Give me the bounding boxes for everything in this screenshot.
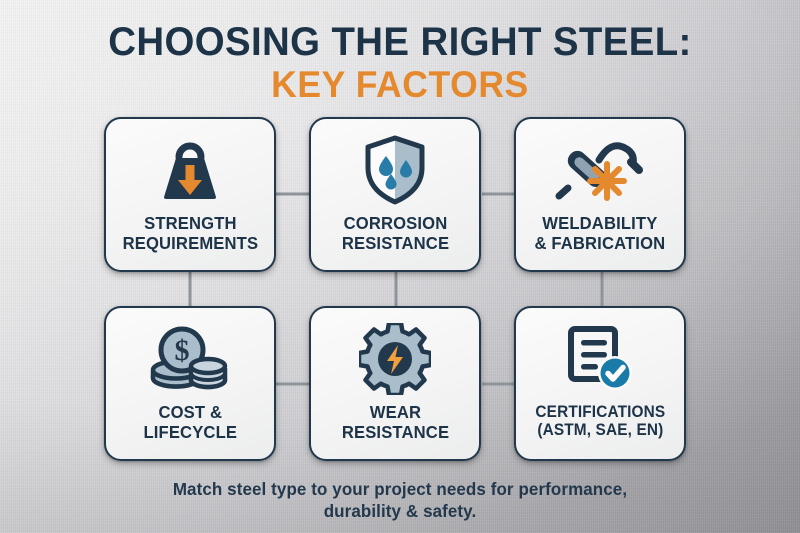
card-label-cost-lifecycle: COST & LIFECYCLE	[139, 403, 240, 443]
title-block: CHOOSING THE RIGHT STEEL: KEY FACTORS	[0, 22, 800, 105]
page-title-primary: CHOOSING THE RIGHT STEEL:	[16, 22, 784, 64]
footer-caption: Match steel type to your project needs f…	[12, 478, 788, 523]
page-title-secondary: KEY FACTORS	[16, 64, 784, 105]
card-label-strength-requirements: STRENGTH REQUIREMENTS	[118, 214, 261, 254]
card-label-certifications: CERTIFICATIONS (ASTM, SAE, EN)	[531, 403, 668, 440]
card-label-wear-resistance: WEAR RESISTANCE	[338, 403, 453, 443]
card-wear-resistance[interactable]: WEAR RESISTANCE	[309, 306, 481, 461]
card-weldability-fabrication[interactable]: WELDABILITY & FABRICATION	[514, 117, 686, 272]
card-certifications[interactable]: CERTIFICATIONS (ASTM, SAE, EN)	[514, 306, 686, 461]
factor-card-grid: STRENGTH REQUIREMENTS	[104, 117, 698, 461]
weight-icon	[154, 133, 226, 207]
card-cost-lifecycle[interactable]: $ COST & LIFECYCLE	[104, 306, 276, 461]
document-check-icon	[563, 322, 637, 396]
coins-dollar-icon: $	[150, 322, 230, 396]
card-strength-requirements[interactable]: STRENGTH REQUIREMENTS	[104, 117, 276, 272]
svg-text:$: $	[175, 334, 190, 367]
gear-bolt-icon	[359, 322, 431, 396]
welding-torch-icon	[555, 133, 645, 207]
shield-droplets-icon	[360, 133, 430, 207]
card-label-weldability-fabrication: WELDABILITY & FABRICATION	[531, 214, 669, 254]
card-label-corrosion-resistance: CORROSION RESISTANCE	[338, 214, 453, 254]
infographic-canvas: CHOOSING THE RIGHT STEEL: KEY FACTORS	[0, 0, 800, 533]
card-corrosion-resistance[interactable]: CORROSION RESISTANCE	[309, 117, 481, 272]
